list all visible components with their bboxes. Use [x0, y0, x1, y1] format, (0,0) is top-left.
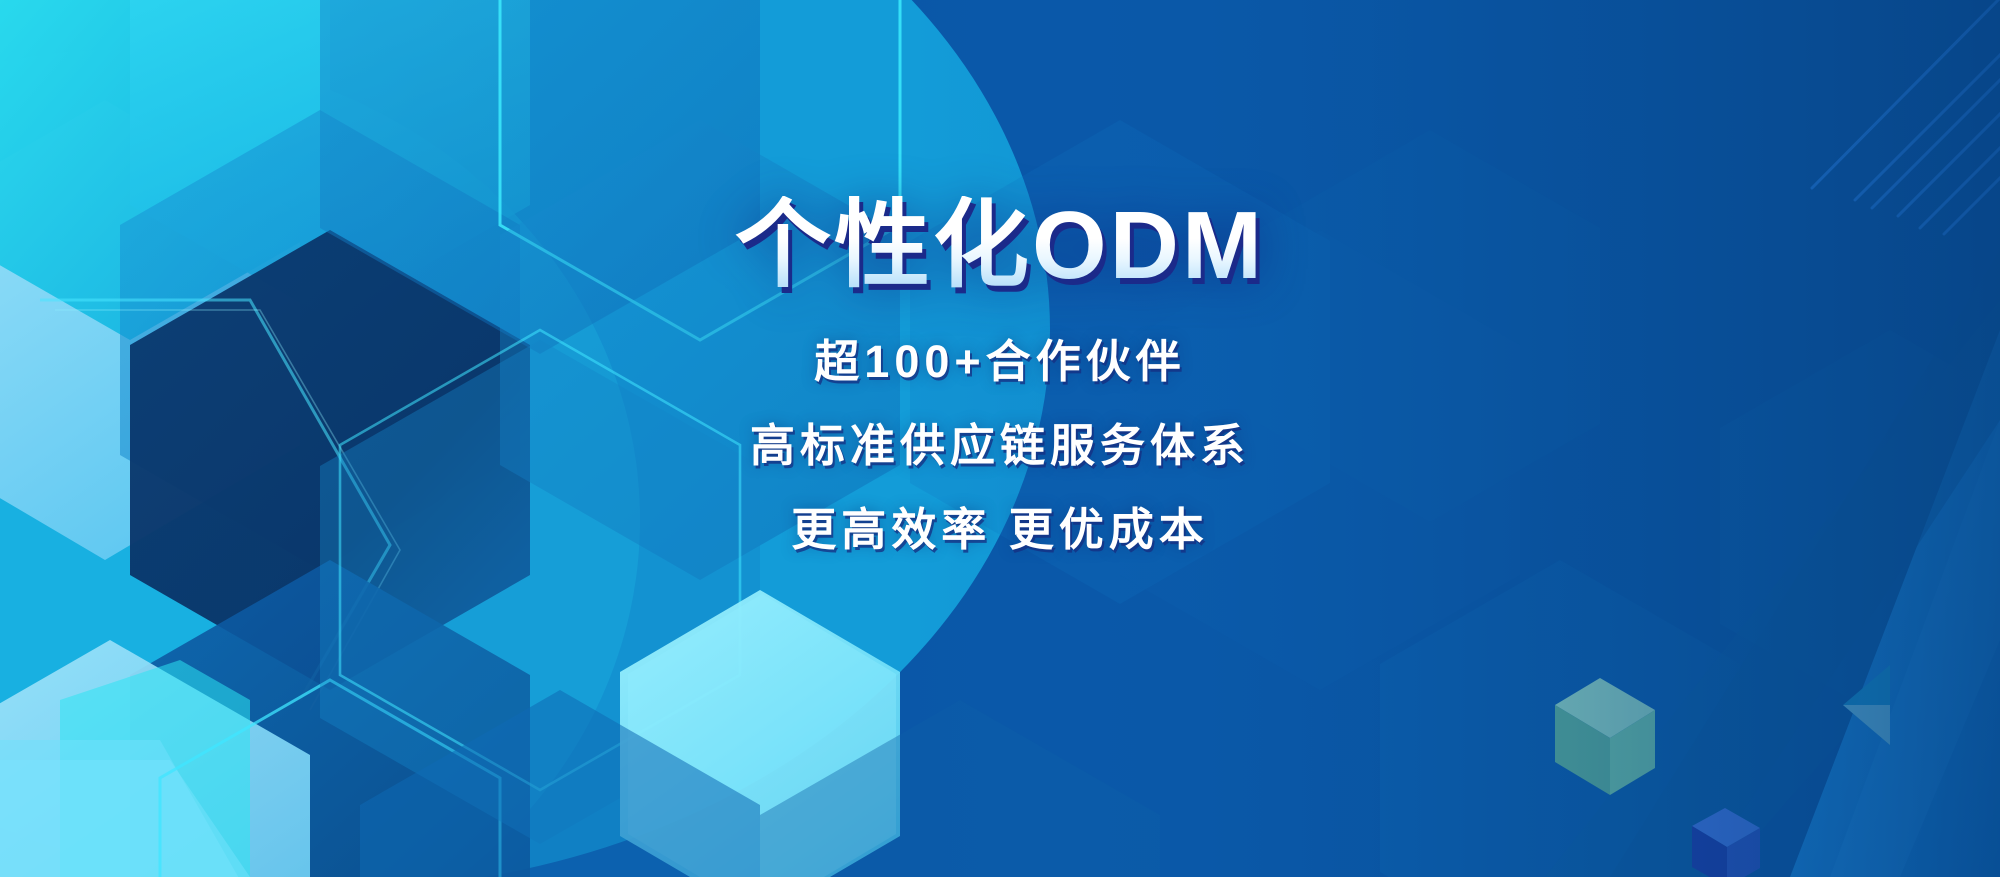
hexagon-pattern [0, 0, 2000, 877]
hero-banner: 个性化ODM 超100+合作伙伴 高标准供应链服务体系 更高效率 更优成本 [0, 0, 2000, 877]
